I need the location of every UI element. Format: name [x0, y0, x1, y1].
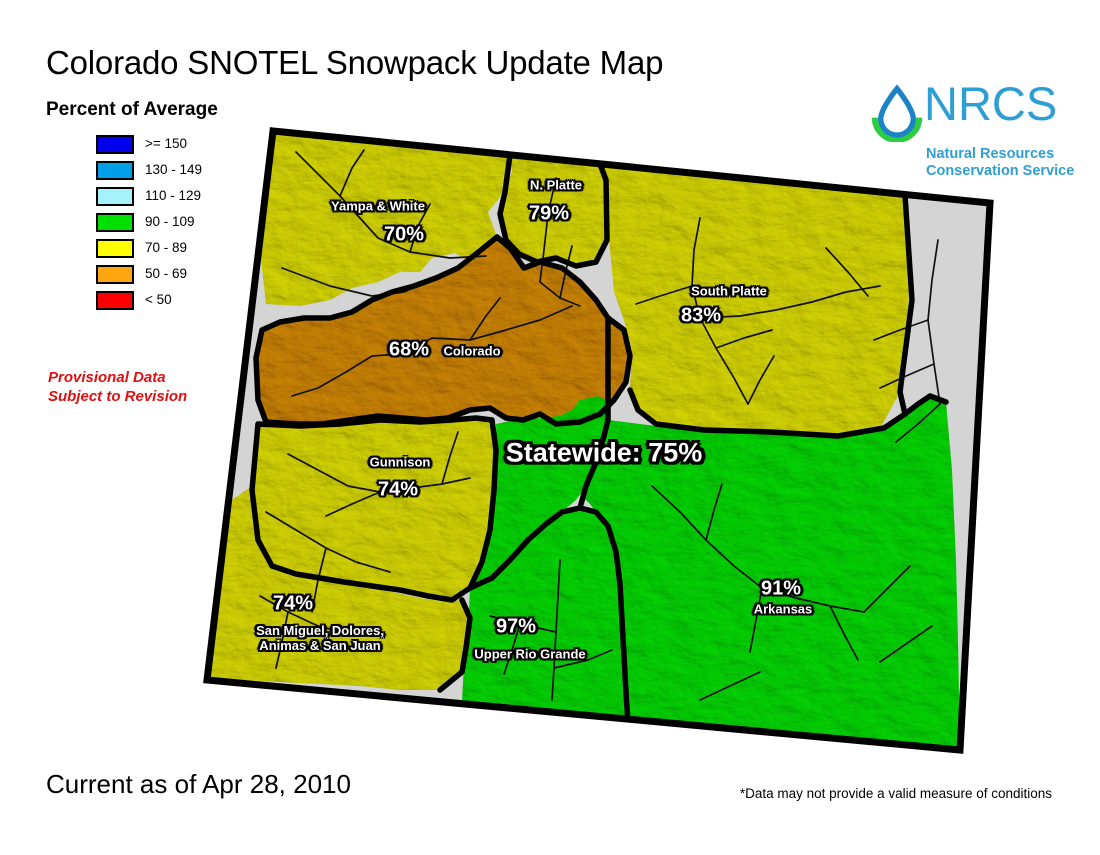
map-basins-group [207, 131, 990, 750]
footer-disclaimer: *Data may not provide a valid measure of… [740, 786, 1052, 801]
map-svg [0, 0, 1100, 850]
basin-area-south-platte [600, 164, 912, 434]
colorado-snotel-map: Yampa & White 70% N. Platte 79% South Pl… [0, 0, 1100, 850]
footer-date: Current as of Apr 28, 2010 [46, 769, 351, 800]
